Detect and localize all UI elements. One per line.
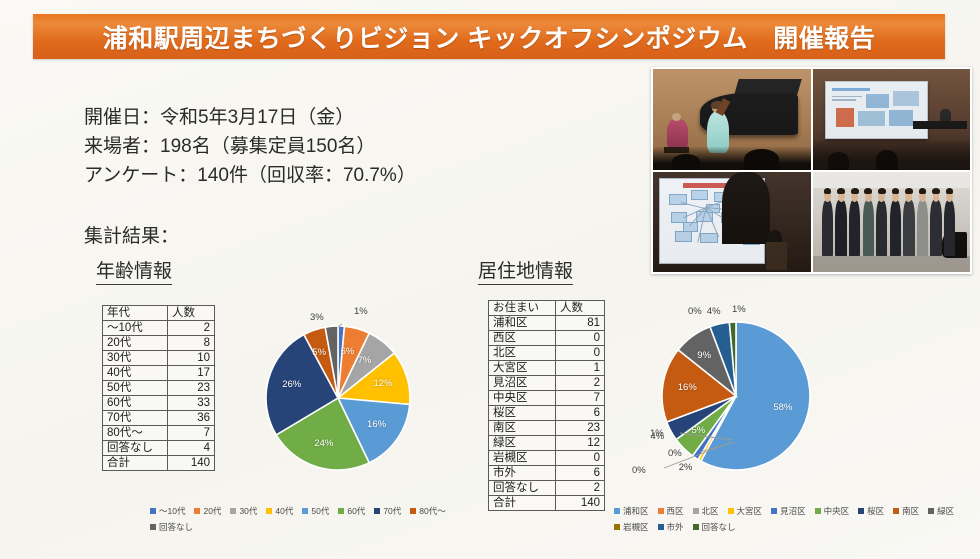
table-row: 大宮区1 bbox=[489, 361, 605, 376]
row-value: 81 bbox=[556, 316, 605, 331]
legend-label: 20代 bbox=[203, 505, 221, 517]
row-value: 4 bbox=[168, 441, 215, 456]
pie-percent-label: 4% bbox=[707, 306, 721, 317]
person-head bbox=[892, 191, 899, 202]
legend-swatch bbox=[728, 508, 734, 514]
legend-swatch bbox=[893, 508, 899, 514]
row-value: 23 bbox=[168, 381, 215, 396]
person-figure bbox=[903, 200, 914, 256]
person-head bbox=[851, 191, 858, 202]
pie-percent-label: 3% bbox=[310, 312, 324, 323]
residence-pie-chart: 58%0%0%1%2%5%4%16%9%0%4%1% bbox=[628, 300, 843, 490]
legend-item: 70代 bbox=[374, 505, 401, 517]
table-total-row: 合計140 bbox=[489, 496, 605, 511]
legend-item: 50代 bbox=[302, 505, 329, 517]
legend-item: 中央区 bbox=[815, 505, 850, 517]
legend-item: 桜区 bbox=[858, 505, 884, 517]
person-figure bbox=[849, 200, 860, 256]
table-row: 桜区6 bbox=[489, 406, 605, 421]
photo-group-panel bbox=[813, 172, 971, 273]
photo-presentation-screen bbox=[813, 69, 971, 170]
person-head bbox=[824, 191, 831, 202]
residence-data-table: お住まい 人数 浦和区81西区0北区0大宮区1見沼区2中央区7桜区6南区23緑区… bbox=[488, 300, 605, 511]
row-value: 8 bbox=[168, 336, 215, 351]
table-row: 60代33 bbox=[103, 396, 215, 411]
person-figure bbox=[863, 200, 874, 256]
event-attendance: 来場者：198名（募集定員150名） bbox=[84, 133, 416, 162]
legend-swatch bbox=[410, 508, 416, 514]
slide-image-4 bbox=[858, 111, 884, 126]
legend-swatch bbox=[771, 508, 777, 514]
legend-label: 60代 bbox=[347, 505, 365, 517]
title-banner: 浦和駅周辺まちづくりビジョン キックオフシンポジウム 開催報告 bbox=[33, 14, 945, 59]
row-label: 西区 bbox=[489, 331, 556, 346]
row-value: 12 bbox=[556, 436, 605, 451]
legend-label: ～10代 bbox=[159, 505, 185, 517]
table-row: ～10代2 bbox=[103, 321, 215, 336]
pie-percent-label: 0% bbox=[688, 306, 702, 317]
total-value: 140 bbox=[168, 456, 215, 471]
legend-swatch bbox=[614, 508, 620, 514]
diagram-node bbox=[691, 190, 708, 200]
stage-desk bbox=[913, 121, 967, 129]
table-row: 70代36 bbox=[103, 411, 215, 426]
legend-item: 回答なし bbox=[150, 521, 193, 533]
slide-image-5 bbox=[889, 110, 913, 126]
row-label: 70代 bbox=[103, 411, 168, 426]
table-row: 回答なし4 bbox=[103, 441, 215, 456]
table-row: 見沼区2 bbox=[489, 376, 605, 391]
person-head bbox=[838, 191, 845, 202]
legend-label: 見沼区 bbox=[780, 505, 806, 517]
person-figure bbox=[835, 200, 846, 256]
row-label: ～10代 bbox=[103, 321, 168, 336]
legend-item: 緑区 bbox=[928, 505, 954, 517]
pie-percent-label: 58% bbox=[773, 402, 792, 413]
residence-chart-legend: 浦和区西区北区大宮区見沼区中央区桜区南区緑区岩槻区市外回答なし bbox=[614, 503, 974, 535]
table-row: 南区23 bbox=[489, 421, 605, 436]
legend-swatch bbox=[374, 508, 380, 514]
row-label: 40代 bbox=[103, 366, 168, 381]
audience-silhouettes bbox=[653, 147, 811, 169]
res-col-header-category: お住まい bbox=[489, 301, 556, 316]
slide-image-3 bbox=[836, 108, 854, 127]
legend-label: 回答なし bbox=[702, 521, 736, 533]
row-label: 桜区 bbox=[489, 406, 556, 421]
table-header-row: 年代 人数 bbox=[103, 306, 215, 321]
pie-percent-label: 26% bbox=[282, 379, 301, 390]
legend-item: 南区 bbox=[893, 505, 919, 517]
row-label: 市外 bbox=[489, 466, 556, 481]
table-row: 緑区12 bbox=[489, 436, 605, 451]
row-label: 30代 bbox=[103, 351, 168, 366]
legend-swatch bbox=[815, 508, 821, 514]
person-figure bbox=[944, 200, 955, 256]
row-label: 見沼区 bbox=[489, 376, 556, 391]
row-label: 回答なし bbox=[103, 441, 168, 456]
diagram-node bbox=[700, 233, 719, 243]
legend-label: 南区 bbox=[902, 505, 919, 517]
legend-item: 大宮区 bbox=[728, 505, 763, 517]
row-value: 2 bbox=[556, 481, 605, 496]
pie-percent-label: 5% bbox=[691, 425, 705, 436]
row-label: 50代 bbox=[103, 381, 168, 396]
legend-swatch bbox=[928, 508, 934, 514]
slide-text-line-1 bbox=[832, 96, 862, 98]
ceiling-band bbox=[813, 172, 971, 188]
legend-label: 40代 bbox=[275, 505, 293, 517]
table-row: 中央区7 bbox=[489, 391, 605, 406]
row-label: 20代 bbox=[103, 336, 168, 351]
legend-swatch bbox=[658, 524, 664, 530]
row-value: 17 bbox=[168, 366, 215, 381]
pie-percent-label: 1% bbox=[732, 304, 746, 315]
pie-percent-label: 1% bbox=[354, 306, 368, 317]
legend-item: 岩槻区 bbox=[614, 521, 649, 533]
legend-item: 見沼区 bbox=[771, 505, 806, 517]
legend-item: 80代～ bbox=[410, 505, 445, 517]
table-total-row: 合計140 bbox=[103, 456, 215, 471]
row-value: 23 bbox=[556, 421, 605, 436]
legend-swatch bbox=[266, 508, 272, 514]
person-head bbox=[933, 191, 940, 202]
row-label: 大宮区 bbox=[489, 361, 556, 376]
pie-percent-label: 24% bbox=[314, 438, 333, 449]
pie-percent-label: 12% bbox=[374, 378, 393, 389]
person-head bbox=[878, 191, 885, 202]
person-figure bbox=[917, 200, 928, 256]
pie-percent-label: 2% bbox=[679, 462, 693, 473]
banner-title: 浦和駅周辺まちづくりビジョン キックオフシンポジウム 開催報告 bbox=[33, 14, 945, 59]
legend-label: 50代 bbox=[311, 505, 329, 517]
diagram-node bbox=[675, 231, 693, 242]
table-row: 浦和区81 bbox=[489, 316, 605, 331]
legend-label: 回答なし bbox=[159, 521, 193, 533]
row-value: 0 bbox=[556, 451, 605, 466]
pie-percent-label: 0% bbox=[668, 448, 682, 459]
photo-collage bbox=[651, 67, 972, 274]
slide-image-1 bbox=[866, 94, 888, 108]
floor-band bbox=[813, 256, 971, 272]
table-header-row: お住まい 人数 bbox=[489, 301, 605, 316]
projection-screen bbox=[825, 81, 928, 139]
legend-swatch bbox=[693, 524, 699, 530]
person-figure bbox=[876, 200, 887, 256]
pianist-figure bbox=[667, 119, 687, 149]
pie-percent-label: 7% bbox=[358, 355, 372, 366]
row-label: 中央区 bbox=[489, 391, 556, 406]
row-label: 北区 bbox=[489, 346, 556, 361]
table-row: 50代23 bbox=[103, 381, 215, 396]
age-data-table: 年代 人数 ～10代220代830代1040代1750代2360代3370代36… bbox=[102, 305, 215, 471]
person-head bbox=[946, 191, 953, 202]
row-label: 回答なし bbox=[489, 481, 556, 496]
pie-percent-label: 9% bbox=[697, 350, 711, 361]
legend-swatch bbox=[194, 508, 200, 514]
row-value: 0 bbox=[556, 331, 605, 346]
slide-text-line-2 bbox=[832, 99, 856, 101]
pie-percent-label: 0% bbox=[632, 465, 646, 476]
residence-section-heading: 居住地情報 bbox=[478, 256, 573, 285]
legend-label: 中央区 bbox=[824, 505, 850, 517]
legend-label: 大宮区 bbox=[737, 505, 763, 517]
legend-swatch bbox=[230, 508, 236, 514]
pie-percent-label: 6% bbox=[341, 346, 355, 357]
person-figure bbox=[822, 200, 833, 256]
event-survey-count: アンケート：140件（回収率：70.7%） bbox=[84, 162, 416, 191]
legend-item: 市外 bbox=[658, 521, 684, 533]
legend-swatch bbox=[150, 508, 156, 514]
slide-title-bar bbox=[832, 88, 870, 91]
legend-label: 緑区 bbox=[937, 505, 954, 517]
legend-item: 北区 bbox=[693, 505, 719, 517]
legend-swatch bbox=[338, 508, 344, 514]
legend-label: 西区 bbox=[667, 505, 684, 517]
table-row: 岩槻区0 bbox=[489, 451, 605, 466]
age-section-heading: 年齢情報 bbox=[96, 256, 172, 285]
pie-percent-label: 16% bbox=[678, 382, 697, 393]
legend-item: 回答なし bbox=[693, 521, 736, 533]
pie-percent-label: 16% bbox=[367, 419, 386, 430]
row-value: 33 bbox=[168, 396, 215, 411]
row-label: 60代 bbox=[103, 396, 168, 411]
row-label: 80代～ bbox=[103, 426, 168, 441]
table-row: 80代～7 bbox=[103, 426, 215, 441]
legend-label: 桜区 bbox=[867, 505, 884, 517]
row-value: 0 bbox=[556, 346, 605, 361]
table-row: 北区0 bbox=[489, 346, 605, 361]
legend-item: ～10代 bbox=[150, 505, 185, 517]
legend-item: 60代 bbox=[338, 505, 365, 517]
legend-swatch bbox=[150, 524, 156, 530]
legend-swatch bbox=[302, 508, 308, 514]
legend-swatch bbox=[614, 524, 620, 530]
event-info-block: 開催日：令和5年3月17日（金） 来場者：198名（募集定員150名） アンケー… bbox=[84, 104, 416, 191]
legend-item: 西区 bbox=[658, 505, 684, 517]
legend-label: 70代 bbox=[383, 505, 401, 517]
legend-label: 浦和区 bbox=[623, 505, 649, 517]
event-date: 開催日：令和5年3月17日（金） bbox=[84, 104, 416, 133]
legend-swatch bbox=[858, 508, 864, 514]
row-value: 6 bbox=[556, 466, 605, 481]
aggregate-results-label: 集計結果： bbox=[84, 221, 179, 248]
table-row: 20代8 bbox=[103, 336, 215, 351]
legend-item: 浦和区 bbox=[614, 505, 649, 517]
row-value: 6 bbox=[556, 406, 605, 421]
row-label: 浦和区 bbox=[489, 316, 556, 331]
age-col-header-category: 年代 bbox=[103, 306, 168, 321]
legend-label: 岩槻区 bbox=[623, 521, 649, 533]
row-value: 2 bbox=[556, 376, 605, 391]
age-col-header-count: 人数 bbox=[168, 306, 215, 321]
pie-svg bbox=[238, 300, 438, 485]
table-row: 西区0 bbox=[489, 331, 605, 346]
pie-percent-label: 4% bbox=[650, 431, 664, 442]
person-head bbox=[905, 191, 912, 202]
legend-label: 北区 bbox=[702, 505, 719, 517]
legend-item: 40代 bbox=[266, 505, 293, 517]
table-row: 30代10 bbox=[103, 351, 215, 366]
table-row: 市外6 bbox=[489, 466, 605, 481]
photo-diagram-projection bbox=[653, 172, 811, 273]
slide-image-2 bbox=[893, 91, 919, 106]
person-head bbox=[919, 191, 926, 202]
res-col-header-count: 人数 bbox=[556, 301, 605, 316]
person-head bbox=[865, 191, 872, 202]
audience-row bbox=[813, 141, 971, 169]
person-figure bbox=[930, 200, 941, 256]
pie-svg bbox=[628, 300, 843, 490]
legend-swatch bbox=[658, 508, 664, 514]
table-row: 回答なし2 bbox=[489, 481, 605, 496]
total-label: 合計 bbox=[103, 456, 168, 471]
row-label: 南区 bbox=[489, 421, 556, 436]
legend-label: 80代～ bbox=[419, 505, 445, 517]
photo-recital-piano-violin bbox=[653, 69, 811, 170]
podium-shape bbox=[766, 242, 786, 270]
table-row: 40代17 bbox=[103, 366, 215, 381]
row-value: 7 bbox=[168, 426, 215, 441]
row-value: 2 bbox=[168, 321, 215, 336]
total-label: 合計 bbox=[489, 496, 556, 511]
age-pie-chart: 1%6%7%12%16%24%26%5%3% bbox=[238, 300, 438, 485]
row-value: 1 bbox=[556, 361, 605, 376]
row-value: 7 bbox=[556, 391, 605, 406]
row-value: 10 bbox=[168, 351, 215, 366]
legend-label: 市外 bbox=[667, 521, 684, 533]
row-label: 岩槻区 bbox=[489, 451, 556, 466]
row-value: 36 bbox=[168, 411, 215, 426]
total-value: 140 bbox=[556, 496, 605, 511]
legend-swatch bbox=[693, 508, 699, 514]
legend-item: 20代 bbox=[194, 505, 221, 517]
pie-percent-label: 5% bbox=[312, 347, 326, 358]
legend-label: 30代 bbox=[239, 505, 257, 517]
foreground-silhouette bbox=[722, 172, 769, 244]
person-figure bbox=[890, 200, 901, 256]
legend-item: 30代 bbox=[230, 505, 257, 517]
row-label: 緑区 bbox=[489, 436, 556, 451]
age-chart-legend: ～10代20代30代40代50代60代70代80代～回答なし bbox=[150, 503, 460, 535]
